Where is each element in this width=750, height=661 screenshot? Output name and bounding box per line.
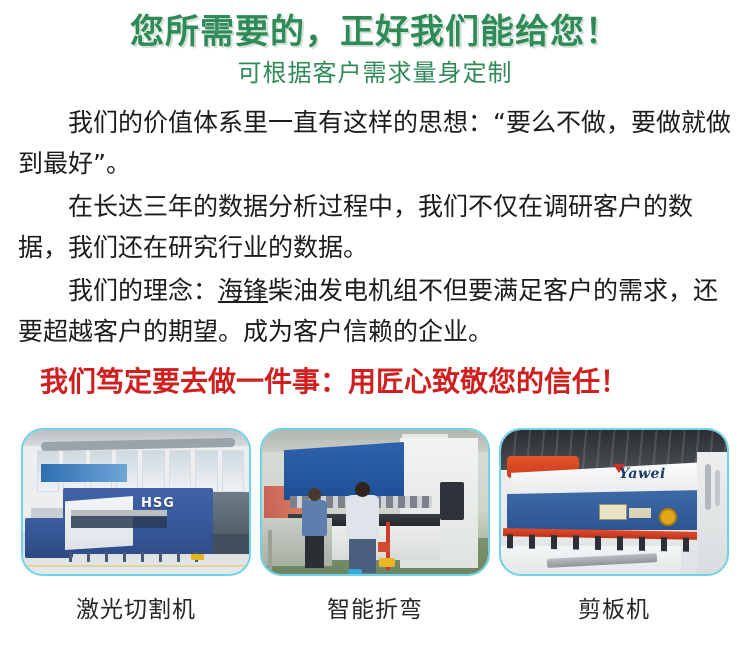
page-headline: 您所需要的，正好我们能给您！ — [0, 0, 750, 54]
body-text-block: 我们的价值体系里一直有这样的思想：“要么不做，要做就做到最好”。 在长达三年的数… — [0, 102, 750, 352]
plate-shearing-machine-photo: Yawei — [501, 430, 727, 574]
gallery-caption-3: 剪板机 — [578, 590, 650, 624]
paragraph-2: 在长达三年的数据分析过程中，我们不仅在调研客户的数据，我们还在研究行业的数据。 — [18, 186, 734, 268]
hsg-brand-label: HSG — [141, 496, 175, 511]
gallery-card-1[interactable]: HSG 激光切割机 — [21, 428, 251, 661]
machine-gallery: HSG 激光切割机 — [0, 428, 750, 661]
laser-cutting-machine-photo: HSG — [23, 430, 249, 574]
page-subheadline: 可根据客户需求量身定制 — [0, 56, 750, 90]
press-brake-photo — [262, 430, 488, 574]
photo-frame-2 — [260, 428, 490, 576]
gallery-caption-2: 智能折弯 — [327, 590, 423, 624]
philosophy-prefix: 我们的理念： — [68, 276, 218, 305]
emergency-stop-button-icon — [659, 508, 677, 526]
photo-frame-1: HSG — [21, 428, 251, 576]
yawei-brand-label: Yawei — [619, 466, 666, 482]
gallery-caption-1: 激光切割机 — [76, 590, 196, 624]
paragraph-philosophy: 我们的理念：海锋柴油发电机组不但要满足客户的需求，还要超越客户的期望。成为客户信… — [18, 270, 734, 352]
promo-page: 您所需要的，正好我们能给您！ 可根据客户需求量身定制 我们的价值体系里一直有这样… — [0, 0, 750, 661]
red-slogan: 我们笃定要去做一件事：用匠心致敬您的信任！ — [0, 360, 750, 404]
paragraph-1: 我们的价值体系里一直有这样的思想：“要么不做，要做就做到最好”。 — [18, 102, 734, 184]
gallery-card-3[interactable]: Yawei 剪板机 — [499, 428, 729, 661]
photo-frame-3: Yawei — [499, 428, 729, 576]
brand-name: 海锋 — [218, 276, 268, 305]
gallery-card-2[interactable]: 智能折弯 — [260, 428, 490, 661]
